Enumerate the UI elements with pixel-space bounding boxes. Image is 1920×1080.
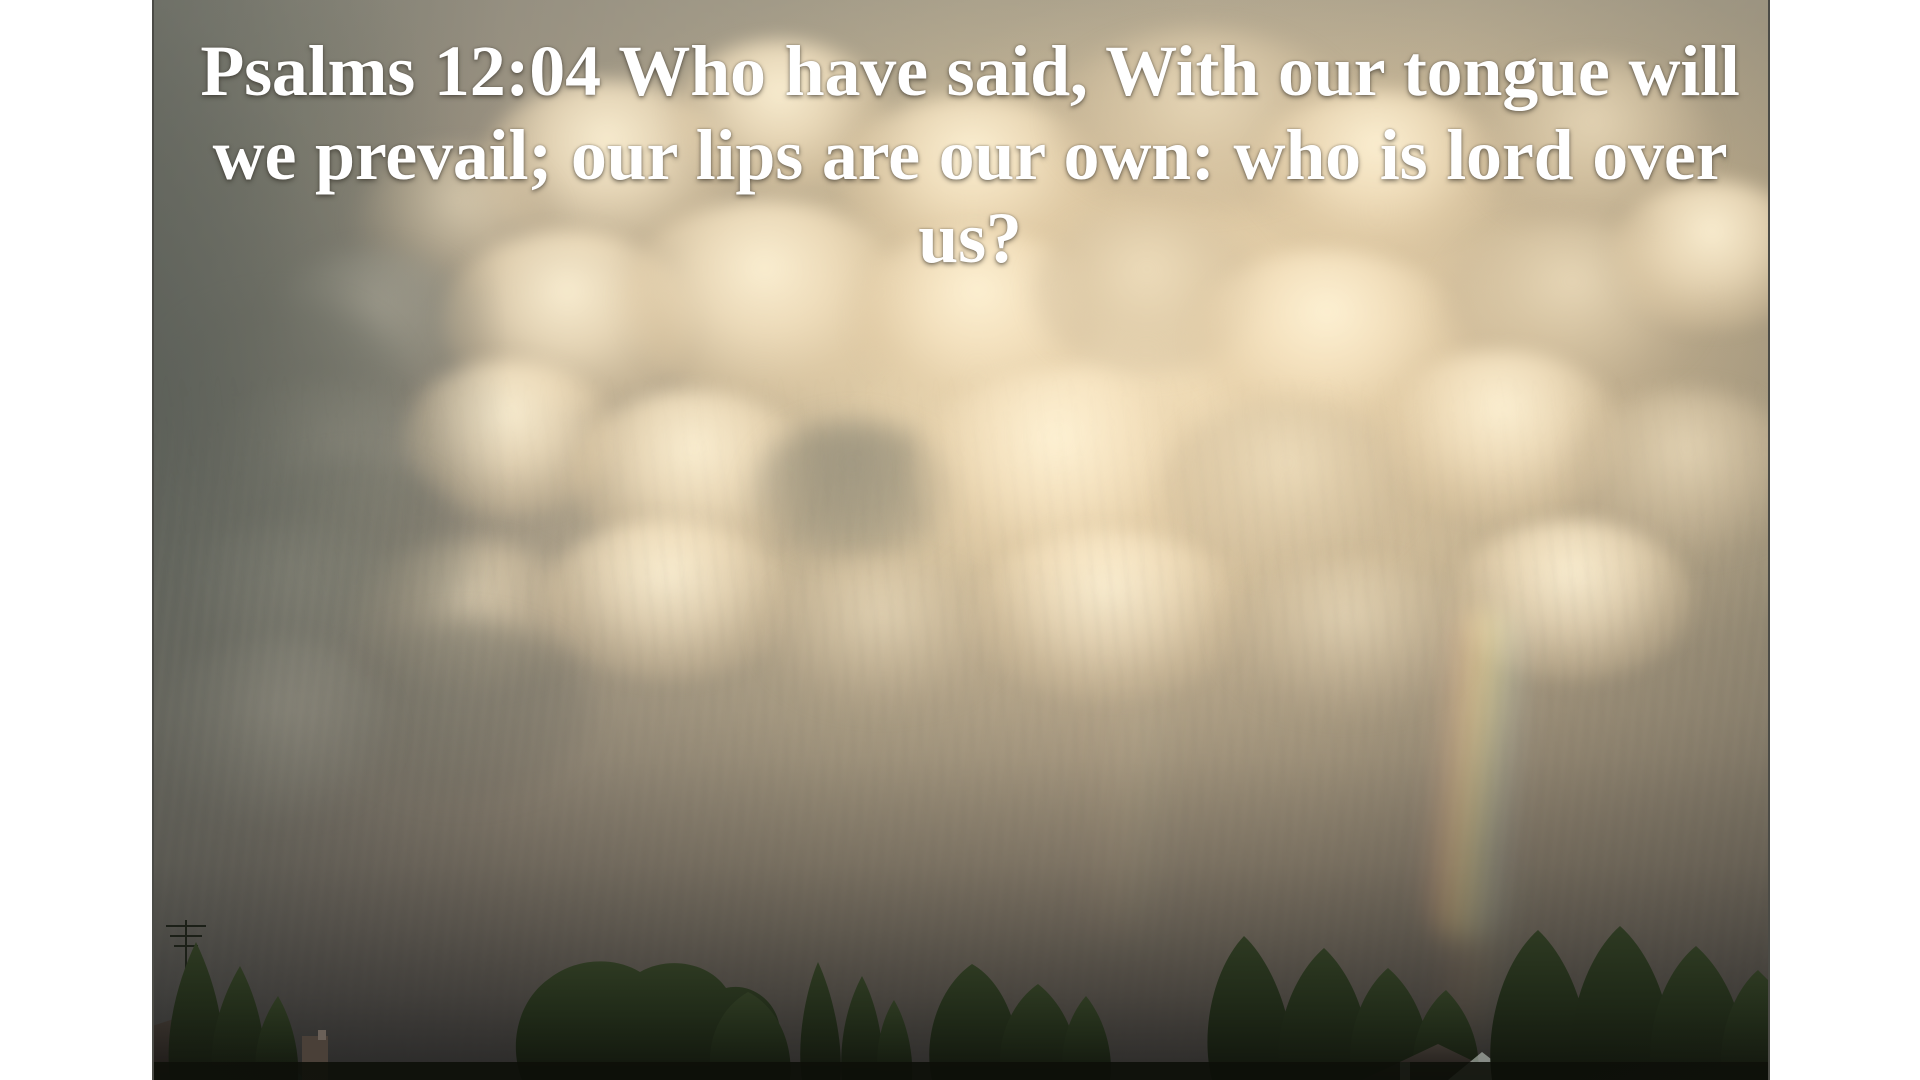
- slide-canvas: Psalms 12:04 Who have said, With our ton…: [0, 0, 1920, 1080]
- scripture-verse-text: Psalms 12:04 Who have said, With our ton…: [180, 30, 1760, 281]
